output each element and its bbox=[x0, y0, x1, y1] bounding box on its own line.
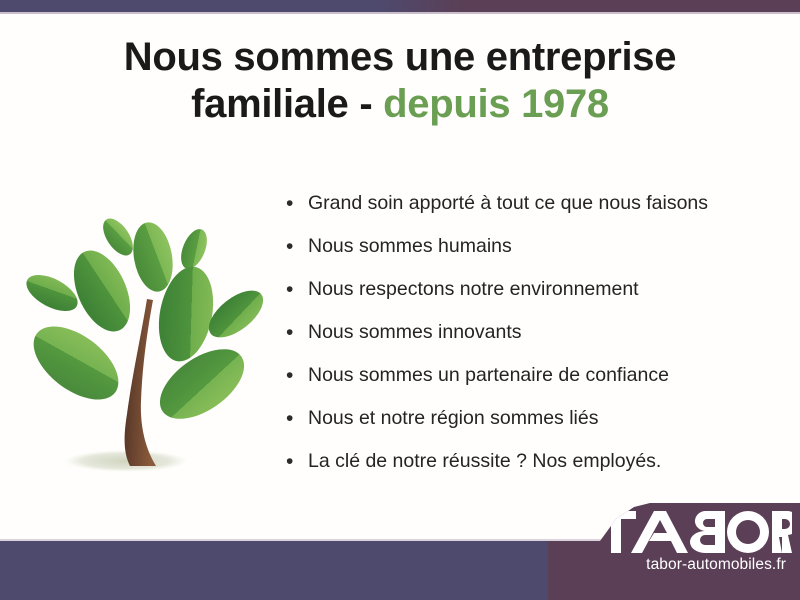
bullet-text: Nous sommes un partenaire de confiance bbox=[308, 362, 669, 389]
list-item: • Nous et notre région sommes liés bbox=[286, 405, 786, 448]
title-line-1: Nous sommes une entreprise bbox=[0, 34, 800, 81]
bullet-marker-icon: • bbox=[286, 276, 308, 303]
leaf-far-left bbox=[21, 267, 84, 318]
leaf-top-small-left bbox=[97, 213, 139, 260]
title-line-2: familiale - depuis 1978 bbox=[0, 81, 800, 128]
list-item: • Nous sommes un partenaire de confiance bbox=[286, 362, 786, 405]
list-item: • La clé de notre réussite ? Nos employé… bbox=[286, 448, 786, 491]
bullet-text: La clé de notre réussite ? Nos employés. bbox=[308, 448, 661, 475]
bullet-text: Nous et notre région sommes liés bbox=[308, 405, 598, 432]
brand-url[interactable]: tabor-automobiles.fr bbox=[548, 556, 800, 574]
title-line-2-accent: depuis 1978 bbox=[383, 82, 609, 126]
slide-canvas: Nous sommes une entreprise familiale - d… bbox=[0, 0, 800, 600]
tree-icon bbox=[14, 186, 278, 486]
top-accent-hairline bbox=[0, 12, 800, 14]
bullet-text: Nous respectons notre environnement bbox=[308, 276, 639, 303]
list-item: • Nous respectons notre environnement bbox=[286, 276, 786, 319]
bullet-list: • Grand soin apporté à tout ce que nous … bbox=[286, 190, 786, 491]
leaf-top-small-right bbox=[176, 225, 212, 272]
brand-logo-block: tabor-automobiles.fr bbox=[548, 503, 800, 600]
bullet-marker-icon: • bbox=[286, 190, 308, 217]
bullet-marker-icon: • bbox=[286, 405, 308, 432]
tree-illustration bbox=[14, 186, 278, 486]
tabor-wordmark-icon bbox=[596, 511, 792, 553]
tree-trunk bbox=[125, 299, 156, 466]
bullet-text: Nous sommes humains bbox=[308, 233, 512, 260]
bullet-marker-icon: • bbox=[286, 448, 308, 475]
slide-title: Nous sommes une entreprise familiale - d… bbox=[0, 34, 800, 128]
bullet-text: Grand soin apporté à tout ce que nous fa… bbox=[308, 190, 708, 217]
leaf-mid-left bbox=[63, 242, 142, 340]
tabor-logotype-icon bbox=[596, 511, 792, 553]
bullet-marker-icon: • bbox=[286, 233, 308, 260]
list-item: • Nous sommes innovants bbox=[286, 319, 786, 362]
bullet-marker-icon: • bbox=[286, 362, 308, 389]
title-line-2-plain: familiale - bbox=[191, 82, 383, 126]
bullet-marker-icon: • bbox=[286, 319, 308, 346]
list-item: • Nous sommes humains bbox=[286, 233, 786, 276]
bullet-text: Nous sommes innovants bbox=[308, 319, 522, 346]
list-item: • Grand soin apporté à tout ce que nous … bbox=[286, 190, 786, 233]
top-accent-bar bbox=[0, 0, 800, 12]
